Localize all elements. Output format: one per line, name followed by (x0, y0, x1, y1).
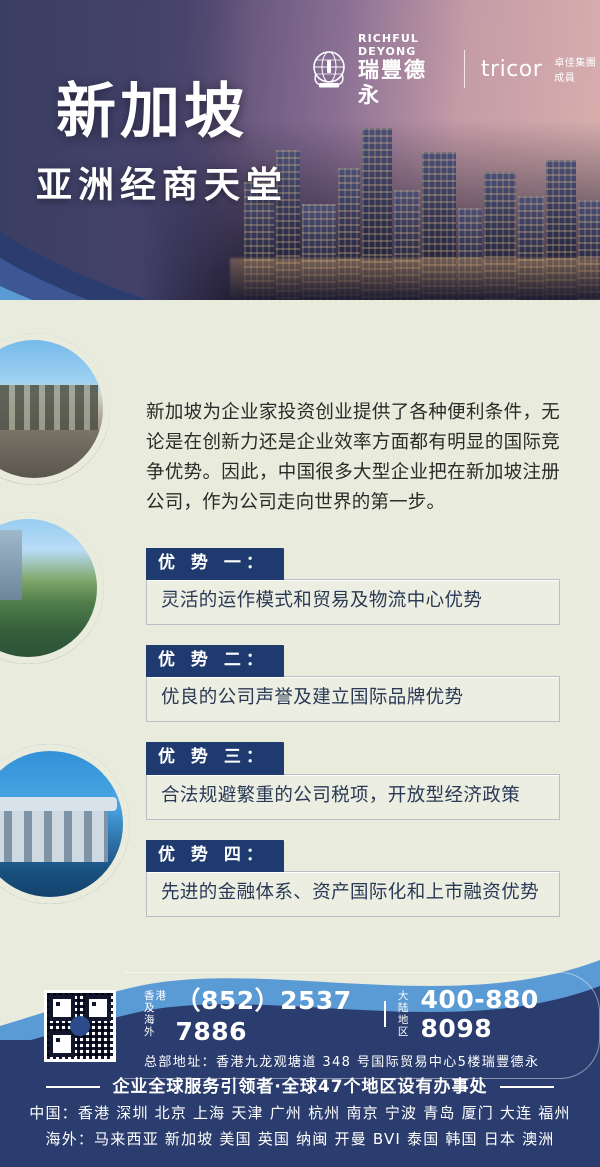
page-subtitle: 亚洲经商天堂 (36, 168, 288, 204)
footer: 香港及 海 外 （852）2537 7886 大陆 地区 400-880 809… (0, 930, 600, 1167)
phone-divider (384, 1001, 386, 1027)
contact-panel: 香港及 海 外 （852）2537 7886 大陆 地区 400-880 809… (124, 972, 600, 1079)
advantage-text: 优良的公司声誉及建立国际品牌优势 (146, 676, 560, 722)
advantage-badge: 优 势 三： (146, 742, 284, 774)
headquarters-address: 总部地址：香港九龙观塘道 348 号国际贸易中心5楼瑞豐德永 (144, 1051, 573, 1070)
contact-block: 香港及 海 外 （852）2537 7886 大陆 地区 400-880 809… (44, 972, 600, 1079)
page-title: 新加坡 (56, 82, 248, 142)
brand-logo: RICHFUL DEYONG 瑞豐德永 tricor 卓佳集團成員 (308, 32, 600, 107)
globe-wreath-emblem-icon (308, 48, 350, 90)
poster-root: 新加坡 亚洲经商天堂 RICHFUL DEYONG 瑞豐德永 (0, 0, 600, 1167)
slogan-rule-right (500, 1086, 554, 1088)
cn-phone-number: 400-880 8098 (421, 985, 573, 1043)
cn-phone-label: 大陆 地区 (398, 990, 416, 1038)
advantage-item: 优 势 三： 合法规避繁重的公司税项，开放型经济政策 (146, 742, 560, 819)
logo-partner-name: tricor (481, 57, 542, 82)
advantage-text: 合法规避繁重的公司税项，开放型经济政策 (146, 774, 560, 820)
advantage-item: 优 势 四： 先进的金融体系、资产国际化和上市融资优势 (146, 840, 560, 917)
logo-chinese-name: 瑞豐德永 (358, 58, 448, 106)
hk-phone-label: 香港及 海 外 (144, 990, 170, 1038)
slogan-text: 企业全球服务引领者·全球47个地区设有办事处 (112, 1077, 487, 1097)
hk-phone-number: （852）2537 7886 (175, 981, 372, 1046)
advantage-text: 先进的金融体系、资产国际化和上市融资优势 (146, 871, 560, 917)
marina-bay-sands-photo (0, 744, 130, 904)
logo-english-name: RICHFUL DEYONG (358, 32, 448, 58)
qr-code-icon[interactable] (44, 990, 116, 1062)
slogan-rule-left (46, 1086, 100, 1088)
advantage-badge: 优 势 二： (146, 645, 284, 677)
regions-china: 中国：香港 深圳 北京 上海 天津 广州 杭州 南京 宁波 青岛 厦门 大连 福… (0, 1102, 600, 1123)
logo-divider (464, 50, 465, 88)
advantage-item: 优 势 二： 优良的公司声誉及建立国际品牌优势 (146, 645, 560, 722)
advantage-badge: 优 势 一： (146, 548, 284, 580)
shophouse-street-photo (0, 333, 110, 485)
intro-paragraph: 新加坡为企业家投资创业提供了各种便利条件，无论是在创新力还是企业效率方面都有明显… (146, 398, 560, 518)
logo-partner-chinese: 卓佳集團成員 (554, 54, 600, 84)
company-slogan: 企业全球服务引领者·全球47个地区设有办事处 (0, 1072, 600, 1097)
advantage-item: 优 势 一： 灵活的运作模式和贸易及物流中心优势 (146, 548, 560, 625)
advantage-badge: 优 势 四： (146, 840, 284, 872)
city-greenery-photo (0, 512, 104, 664)
advantage-text: 灵活的运作模式和贸易及物流中心优势 (146, 579, 560, 625)
phone-row: 香港及 海 外 （852）2537 7886 大陆 地区 400-880 809… (144, 981, 573, 1046)
regions-overseas: 海外：马来西亚 新加坡 美国 英国 纳闽 开曼 BVI 泰国 韩国 日本 澳洲 (0, 1128, 600, 1149)
